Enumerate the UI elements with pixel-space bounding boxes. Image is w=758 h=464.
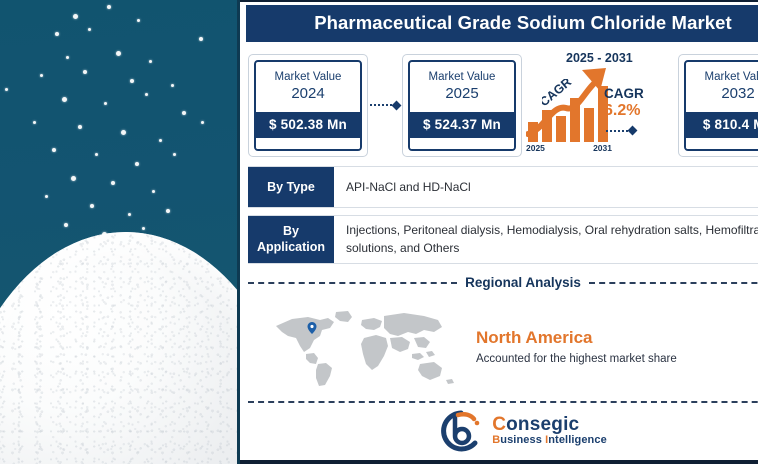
- market-value-card-2032-shell: Market Value 2032 $ 810.4 Mn: [678, 54, 758, 157]
- market-value-amount-2032: $ 810.4 Mn: [686, 112, 758, 138]
- brand-wordmark: Consegic Business Intelligence: [492, 415, 607, 446]
- market-value-label-2024: Market Value: [258, 70, 358, 84]
- regional-analysis-title: Regional Analysis: [465, 275, 581, 290]
- market-value-card-2025: Market Value 2025 $ 524.37 Mn: [408, 60, 516, 151]
- svg-text:CAGR: CAGR: [542, 79, 574, 109]
- regional-analysis-body: North America Accounted for the highest …: [246, 292, 758, 401]
- divider-rule-left: [248, 282, 457, 284]
- market-value-card-2025-shell: Market Value 2025 $ 524.37 Mn: [402, 54, 522, 157]
- regional-analysis-divider: Regional Analysis: [246, 271, 758, 292]
- market-value-year-2024: 2024: [258, 85, 358, 104]
- market-value-foot-2025: [410, 138, 514, 149]
- brand-footer: Consegic Business Intelligence: [246, 403, 758, 460]
- market-value-amount-2024: $ 502.38 Mn: [256, 112, 360, 138]
- page-title: Pharmaceutical Grade Sodium Chloride Mar…: [246, 5, 758, 42]
- segment-row-by-type: By Type API-NaCl and HD-NaCl: [248, 166, 758, 208]
- segment-label-by-type: By Type: [248, 167, 334, 207]
- cagr-word-label: CAGR: [604, 87, 644, 102]
- cagr-block: 2025 - 2031 CAGR CAGR 6.2%: [526, 51, 678, 159]
- market-value-card-2032: Market Value 2032 $ 810.4 Mn: [684, 60, 758, 151]
- cagr-arrow-text-label: CAGR: [542, 79, 598, 119]
- market-value-head-2025: Market Value 2025: [410, 62, 514, 112]
- consegic-logo-icon: [439, 410, 483, 452]
- segment-rows: By Type API-NaCl and HD-NaCl By Applicat…: [246, 164, 758, 271]
- map-pin-north-america-icon: [306, 322, 318, 334]
- world-map: [262, 306, 462, 390]
- segment-row-by-application: By Application Injections, Peritoneal di…: [248, 215, 758, 264]
- brand-tagline: Business Intelligence: [492, 435, 607, 447]
- infographic-content: Pharmaceutical Grade Sodium Chloride Mar…: [240, 0, 758, 464]
- cagr-value-group: CAGR 6.2%: [604, 87, 644, 120]
- salt-pile-texture: [0, 232, 240, 464]
- market-value-label-2032: Market Value: [688, 70, 758, 84]
- market-value-year-2025: 2025: [412, 85, 512, 104]
- product-photo-salt: [0, 0, 240, 464]
- world-map-icon: [262, 306, 462, 390]
- connector-cagr-to-2032: [606, 127, 636, 134]
- brand-tagline-ntelligence: ntelligence: [548, 434, 607, 446]
- market-value-foot-2032: [686, 138, 758, 149]
- segment-value-by-application: Injections, Peritoneal dialysis, Hemodia…: [334, 216, 758, 263]
- regional-description: Accounted for the highest market share: [476, 352, 681, 368]
- connector-2024-to-2025: [368, 102, 402, 109]
- cagr-axis-start: 2025: [526, 143, 545, 153]
- brand-tagline-usiness: usiness: [500, 434, 542, 446]
- brand-name-initial: C: [492, 414, 506, 435]
- segment-label-by-application: By Application: [248, 216, 334, 263]
- market-value-amount-2025: $ 524.37 Mn: [410, 112, 514, 138]
- brand-name: Consegic: [492, 415, 607, 435]
- divider-rule-right: [589, 282, 758, 284]
- cagr-period-label: 2025 - 2031: [566, 51, 633, 65]
- cagr-percent-value: 6.2%: [604, 102, 644, 120]
- cagr-axis-end: 2031: [593, 143, 612, 153]
- market-value-year-2032: 2032: [688, 85, 758, 104]
- regional-highlight: North America Accounted for the highest …: [476, 328, 758, 367]
- market-value-foot-2024: [256, 138, 360, 149]
- market-value-card-2024-shell: Market Value 2024 $ 502.38 Mn: [248, 54, 368, 157]
- market-value-card-2024: Market Value 2024 $ 502.38 Mn: [254, 60, 362, 151]
- infographic-canvas: Pharmaceutical Grade Sodium Chloride Mar…: [0, 0, 758, 464]
- connector-line: [370, 104, 392, 106]
- regional-name: North America: [476, 328, 758, 348]
- market-value-head-2024: Market Value 2024: [256, 62, 360, 112]
- connector-arrow-icon: [392, 100, 402, 110]
- connector-line: [606, 130, 628, 132]
- brand-name-rest: onsegic: [506, 414, 579, 435]
- market-value-row: Market Value 2024 $ 502.38 Mn Market Val…: [246, 42, 758, 164]
- cagr-axis-years: 2025 2031: [526, 143, 612, 153]
- segment-value-by-type: API-NaCl and HD-NaCl: [334, 167, 758, 207]
- connector-arrow-icon: [628, 126, 638, 136]
- market-value-head-2032: Market Value 2032: [686, 62, 758, 112]
- market-value-label-2025: Market Value: [412, 70, 512, 84]
